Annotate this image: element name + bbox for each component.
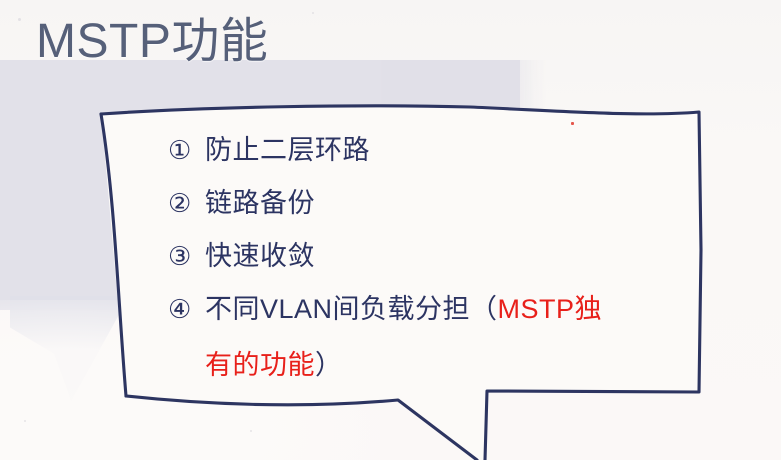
list-item-label-highlight: MSTP独 bbox=[498, 294, 603, 324]
list-item-marker: ① bbox=[168, 135, 205, 166]
background-speck bbox=[312, 12, 314, 14]
paren-open: （ bbox=[470, 294, 498, 324]
list-item: ③ 快速收敛 bbox=[168, 234, 688, 287]
list-item: ④ 不同VLAN间负载分担（MSTP独 bbox=[168, 287, 688, 340]
stray-red-dot bbox=[571, 122, 574, 125]
page-title: MSTP功能 bbox=[36, 18, 268, 66]
list-item-continuation-highlight: 有的功能 bbox=[205, 350, 315, 380]
paren-close: ） bbox=[315, 350, 343, 380]
background-speck bbox=[250, 430, 252, 432]
list-item-marker: ③ bbox=[168, 241, 205, 272]
bullet-list: ① 防止二层环路 ② 链路备份 ③ 快速收敛 ④ 不同VLAN间负载分担（MST… bbox=[168, 128, 688, 390]
background-speck bbox=[24, 420, 26, 422]
list-item: ② 链路备份 bbox=[168, 181, 688, 234]
list-item-label: 链路备份 bbox=[205, 181, 315, 220]
list-item-marker: ④ bbox=[168, 294, 205, 325]
list-item-label: 快速收敛 bbox=[205, 234, 315, 273]
list-item-continuation: 有的功能） bbox=[205, 340, 688, 390]
slide-canvas: MSTP功能 ① 防止二层环路 ② 链路备份 ③ 快速收敛 ④ 不同VLAN间负… bbox=[0, 0, 781, 460]
list-item-label: 防止二层环路 bbox=[205, 128, 370, 167]
list-item-marker: ② bbox=[168, 188, 205, 219]
list-item: ① 防止二层环路 bbox=[168, 128, 688, 181]
background-speck bbox=[18, 18, 21, 21]
list-item-label: 不同VLAN间负载分担（MSTP独 bbox=[205, 287, 602, 326]
list-item-label-plain: 不同VLAN间负载分担 bbox=[205, 294, 470, 324]
